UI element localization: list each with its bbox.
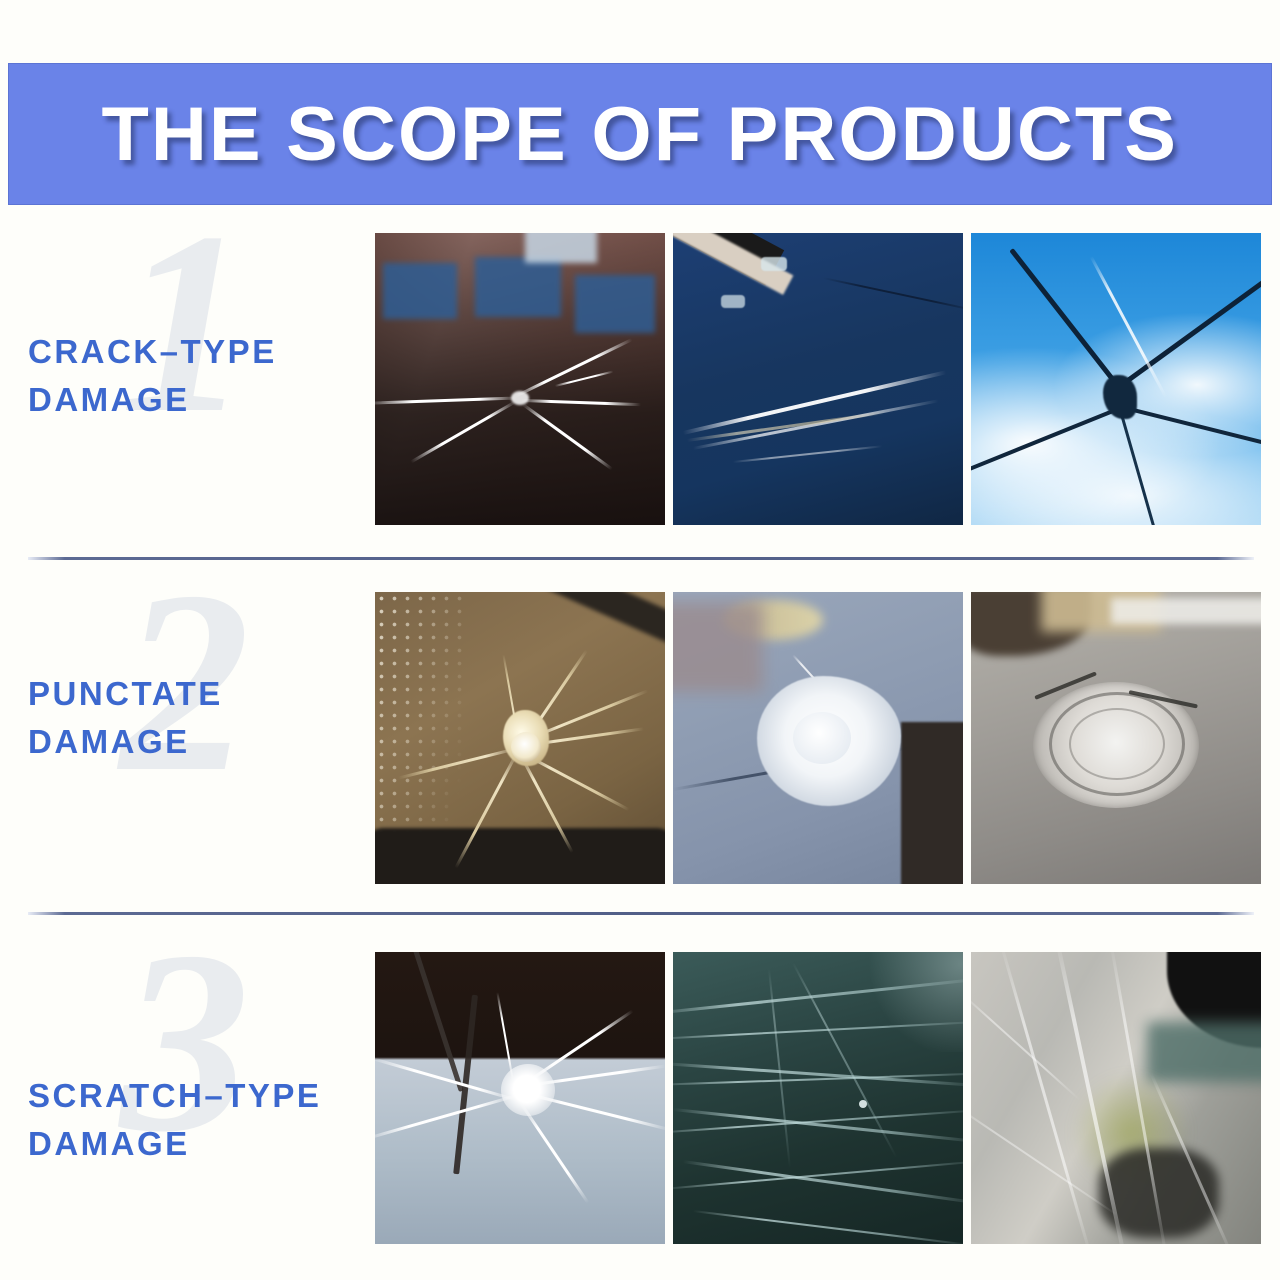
damage-photo-crack-sky: [971, 233, 1261, 525]
row-divider: [28, 912, 1254, 915]
row-label-line-2: DAMAGE: [28, 376, 372, 424]
row-label-line-1: SCRATCH–TYPE: [28, 1072, 372, 1120]
row-label-cell: 1 CRACK–TYPE DAMAGE: [0, 233, 372, 525]
damage-photo-crack-star: [375, 233, 665, 525]
row-image-strip: [375, 592, 1263, 884]
page-title: THE SCOPE OF PRODUCTS: [102, 91, 1179, 178]
damage-photo-scratch-wiper: [673, 952, 963, 1244]
damage-photo-crack-long: [673, 233, 963, 525]
row-label-line-1: PUNCTATE: [28, 670, 372, 718]
damage-row-punctate: 2 PUNCTATE DAMAGE: [0, 592, 1280, 884]
row-label-line-2: DAMAGE: [28, 718, 372, 766]
damage-photo-scratch-starburst: [375, 952, 665, 1244]
row-label-line-1: CRACK–TYPE: [28, 328, 372, 376]
row-label-cell: 3 SCRATCH–TYPE DAMAGE: [0, 952, 372, 1244]
row-image-strip: [375, 233, 1263, 525]
row-label-line-2: DAMAGE: [28, 1120, 372, 1168]
damage-photo-punctate-bullseye-tan: [375, 592, 665, 884]
row-label: CRACK–TYPE DAMAGE: [28, 328, 372, 424]
row-label: PUNCTATE DAMAGE: [28, 670, 372, 766]
row-divider: [28, 557, 1254, 560]
damage-photo-scratch-headlight: [971, 952, 1261, 1244]
damage-row-scratch-type: 3 SCRATCH–TYPE DAMAGE: [0, 952, 1280, 1244]
damage-photo-punctate-crater: [971, 592, 1261, 884]
row-image-strip: [375, 952, 1263, 1244]
row-label-cell: 2 PUNCTATE DAMAGE: [0, 592, 372, 884]
damage-row-crack-type: 1 CRACK–TYPE DAMAGE: [0, 233, 1280, 525]
row-label: SCRATCH–TYPE DAMAGE: [28, 1072, 372, 1168]
header-banner: THE SCOPE OF PRODUCTS: [8, 63, 1272, 205]
damage-photo-punctate-flower: [673, 592, 963, 884]
